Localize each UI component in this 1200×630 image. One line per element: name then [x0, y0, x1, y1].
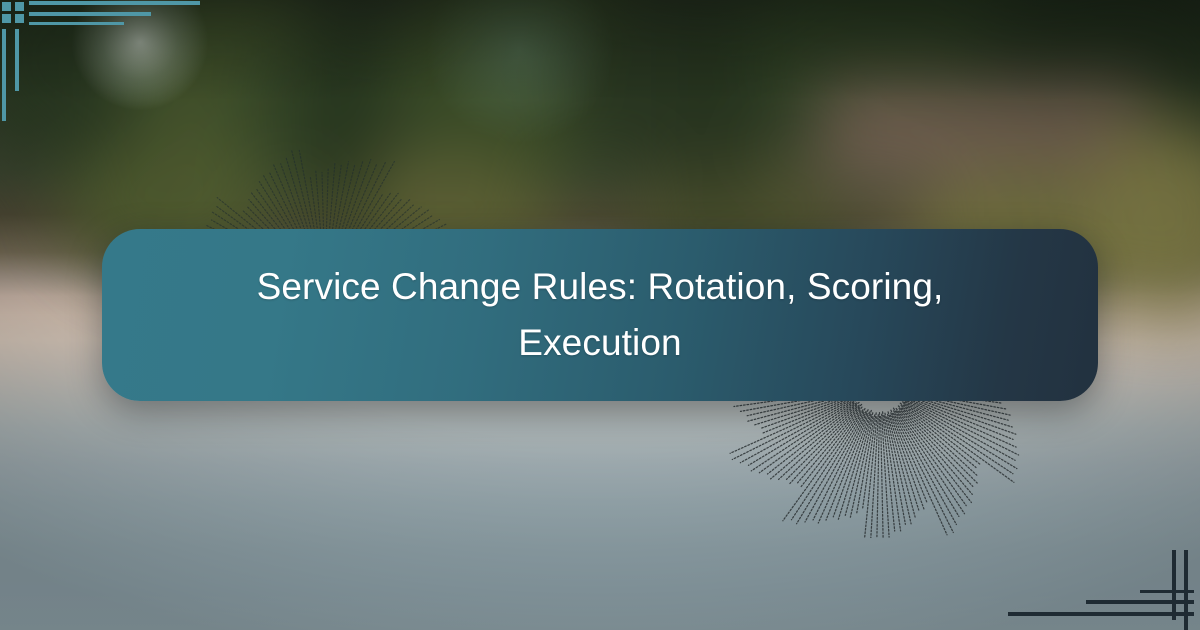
banner-canvas: Service Change Rules: Rotation, Scoring,…	[0, 0, 1200, 630]
page-title: Service Change Rules: Rotation, Scoring,…	[240, 259, 960, 371]
title-card: Service Change Rules: Rotation, Scoring,…	[102, 229, 1098, 401]
